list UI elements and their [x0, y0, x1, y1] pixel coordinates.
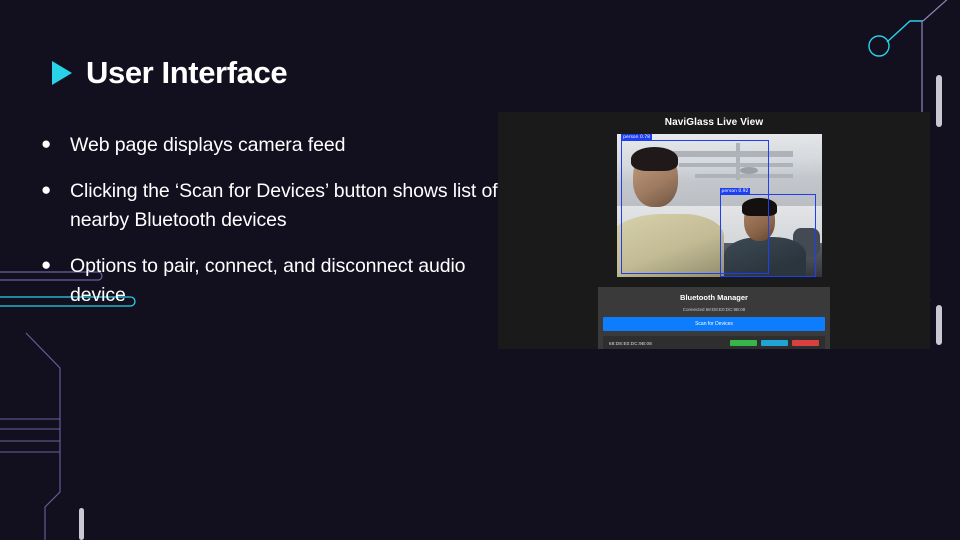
device-mac-address: 68:D8:E0:DC:9B:08	[609, 341, 652, 346]
bullet-dot-icon: ●	[36, 131, 70, 157]
detection-box: person 0.92	[720, 194, 816, 277]
scan-for-devices-button[interactable]: Scan for Devices	[603, 317, 825, 331]
detection-label: person 0.78	[621, 134, 652, 141]
play-triangle-icon	[52, 61, 72, 85]
deco-elbow-top-right	[887, 21, 923, 42]
deco-bar-right-top	[936, 75, 942, 127]
page-title: User Interface	[86, 57, 287, 88]
connect-button[interactable]	[761, 340, 788, 346]
deco-bar-right-mid	[936, 305, 942, 345]
slide-title-row: User Interface	[52, 57, 287, 88]
pair-button[interactable]	[730, 340, 757, 346]
bluetooth-status-text: Connected 68:D8:E0:DC:9B:08	[603, 307, 825, 312]
list-item: ● Options to pair, connect, and disconne…	[36, 252, 506, 310]
disconnect-button[interactable]	[792, 340, 819, 346]
deco-bracket-left	[26, 333, 60, 540]
list-item: ● Web page displays camera feed	[36, 131, 506, 160]
deco-circle-icon	[869, 36, 889, 56]
deco-diagonal-top-right	[923, 0, 960, 21]
bullet-text: Clicking the ‘Scan for Devices’ button s…	[70, 177, 506, 235]
deco-bar-bottom-left	[79, 508, 84, 540]
bluetooth-manager-card: Bluetooth Manager Connected 68:D8:E0:DC:…	[598, 287, 830, 349]
app-title: NaviGlass Live View	[498, 117, 930, 128]
camera-feed: THE NAVIGLASS LAB person 0.78 person 0.9…	[617, 134, 822, 277]
bullet-text: Web page displays camera feed	[70, 131, 345, 160]
bullet-dot-icon: ●	[36, 177, 70, 203]
bullet-list: ● Web page displays camera feed ● Clicki…	[36, 131, 506, 327]
bullet-text: Options to pair, connect, and disconnect…	[70, 252, 506, 310]
device-actions	[730, 340, 819, 346]
bluetooth-manager-title: Bluetooth Manager	[603, 293, 825, 302]
device-list-item[interactable]: 68:D8:E0:DC:9B:08	[603, 336, 825, 349]
list-item: ● Clicking the ‘Scan for Devices’ button…	[36, 177, 506, 235]
app-screenshot-panel: NaviGlass Live View THE NAVIGLASS LAB pe…	[498, 112, 930, 349]
detection-label: person 0.92	[720, 188, 751, 195]
bullet-dot-icon: ●	[36, 252, 70, 278]
